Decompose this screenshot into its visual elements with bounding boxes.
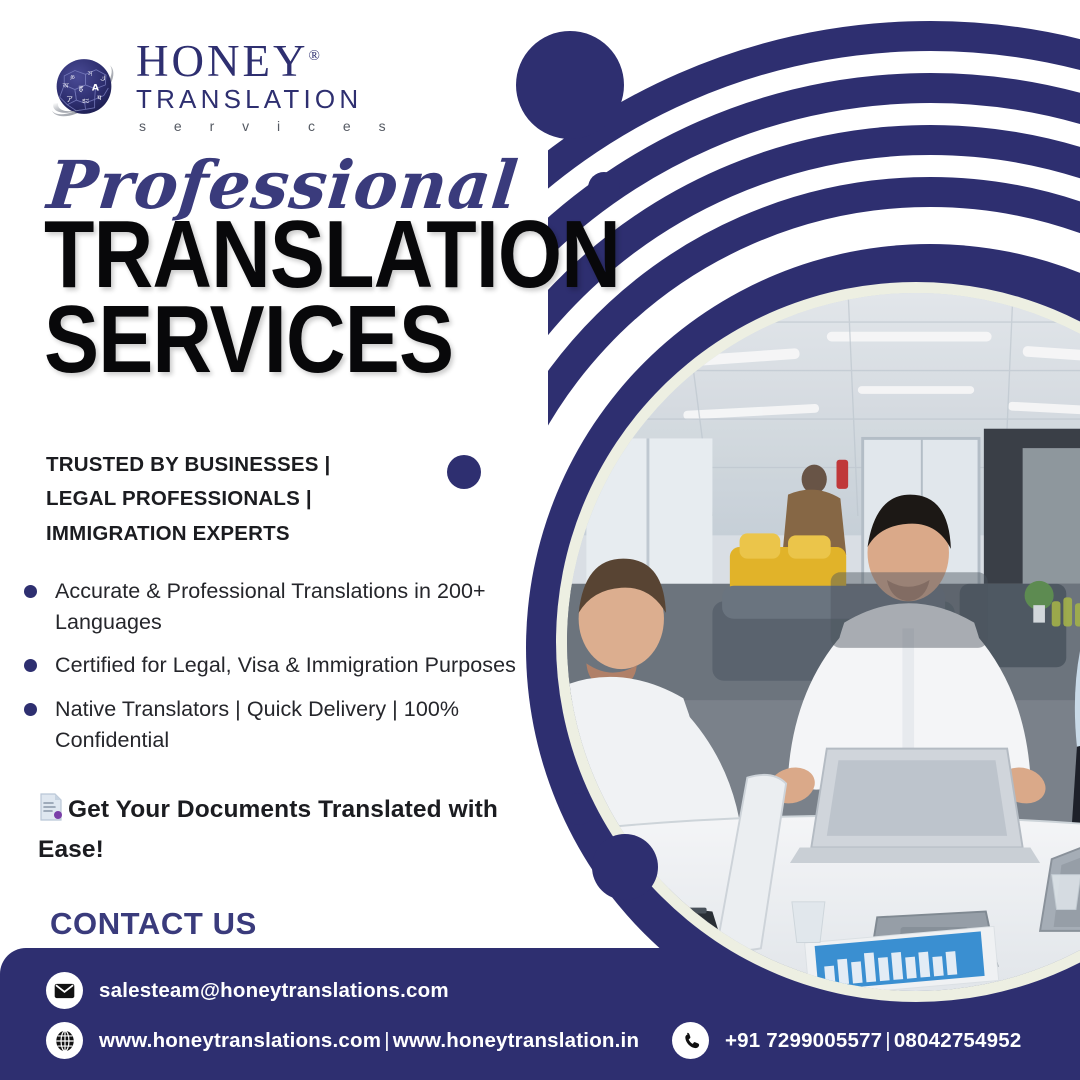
- decorative-dot-small-2: [592, 834, 658, 900]
- decorative-dot-small-1: [563, 793, 595, 825]
- phone-2: 08042754952: [894, 1029, 1022, 1052]
- svg-text:অ: অ: [62, 82, 70, 90]
- svg-text:ك: ك: [100, 74, 106, 82]
- svg-text:স: স: [87, 70, 93, 78]
- list-item: Certified for Legal, Visa & Immigration …: [24, 650, 554, 681]
- list-item: Accurate & Professional Translations in …: [24, 576, 554, 637]
- list-item-label: Native Translators | Quick Delivery | 10…: [55, 694, 554, 755]
- logo-translation-text: TRANSLATION: [136, 83, 398, 116]
- bullet-dot-icon: [24, 703, 37, 716]
- contact-title: CONTACT US: [50, 906, 257, 942]
- subheading-line-2: LEGAL PROFESSIONALS |: [46, 482, 330, 516]
- decorative-dot-left: [447, 455, 481, 489]
- svg-text:ह: ह: [79, 83, 84, 93]
- svg-text:A: A: [92, 83, 99, 93]
- subheading-line-1: TRUSTED BY BUSINESSES |: [46, 448, 330, 482]
- cta-text: Get Your Documents Translated with Ease!: [38, 792, 538, 868]
- contact-email[interactable]: salesteam@honeytranslations.com: [46, 972, 449, 1009]
- phone-separator: |: [882, 1029, 894, 1052]
- envelope-icon: [46, 972, 83, 1009]
- globe-logo-icon: த স ك অ ह A ア ಕನ य: [46, 50, 122, 126]
- website-separator: |: [381, 1029, 393, 1052]
- registered-mark: ®: [308, 48, 319, 64]
- phone-1: +91 7299005577: [725, 1029, 882, 1052]
- contact-website-value: www.honeytranslations.com|www.honeytrans…: [99, 1029, 639, 1053]
- website-1: www.honeytranslations.com: [99, 1029, 381, 1052]
- svg-text:த: த: [70, 72, 75, 80]
- contact-website[interactable]: www.honeytranslations.com|www.honeytrans…: [46, 1022, 639, 1059]
- headline-line-2: SERVICES: [44, 299, 620, 382]
- website-2: www.honeytranslation.in: [393, 1029, 639, 1052]
- list-item-label: Accurate & Professional Translations in …: [55, 576, 554, 637]
- phone-icon: [672, 1022, 709, 1059]
- globe-icon: [46, 1022, 83, 1059]
- subheading-line-3: IMMIGRATION EXPERTS: [46, 517, 330, 551]
- logo-services-text: s e r v i c e s: [136, 115, 398, 137]
- svg-text:ಕನ: ಕನ: [82, 97, 89, 105]
- svg-text:ア: ア: [66, 95, 73, 103]
- list-item-label: Certified for Legal, Visa & Immigration …: [55, 650, 516, 681]
- subheading-block: TRUSTED BY BUSINESSES | LEGAL PROFESSION…: [46, 448, 330, 551]
- page-with-curl-icon: [38, 793, 64, 832]
- contact-email-value: salesteam@honeytranslations.com: [99, 979, 449, 1003]
- feature-list: Accurate & Professional Translations in …: [24, 576, 554, 769]
- logo-wordmark: HONEY® TRANSLATION s e r v i c e s: [136, 38, 398, 138]
- contact-phone[interactable]: +91 7299005577|08042754952: [672, 1022, 1021, 1059]
- bullet-dot-icon: [24, 585, 37, 598]
- brand-logo[interactable]: த স ك অ ह A ア ಕನ य HONEY® TRANSLATION s …: [46, 38, 398, 138]
- decorative-dot-large: [516, 31, 624, 139]
- bullet-dot-icon: [24, 659, 37, 672]
- headline-line-1: TRANSLATION: [44, 214, 620, 297]
- logo-honey-text: HONEY®: [136, 40, 398, 83]
- cta-label: Get Your Documents Translated with Ease!: [38, 796, 498, 863]
- contact-phone-value: +91 7299005577|08042754952: [725, 1029, 1021, 1053]
- list-item: Native Translators | Quick Delivery | 10…: [24, 694, 554, 755]
- headline-block: Professional TRANSLATION SERVICES: [44, 152, 714, 381]
- contact-rows: salesteam@honeytranslations.com www.hone…: [0, 948, 1080, 1080]
- poster-canvas: த স ك অ ह A ア ಕನ य HONEY® TRANSLATION s …: [0, 0, 1080, 1080]
